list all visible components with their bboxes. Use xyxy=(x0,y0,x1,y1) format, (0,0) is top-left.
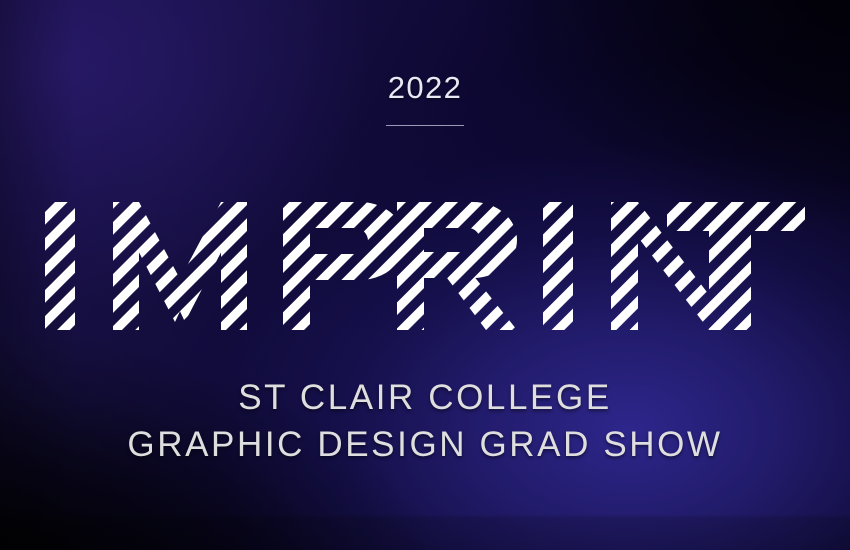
year-divider-rule xyxy=(386,125,464,126)
title-stripe-fill xyxy=(45,186,805,346)
title-wordmark xyxy=(0,186,850,346)
year-block: 2022 xyxy=(0,72,850,126)
imprint-title-svg xyxy=(45,186,805,346)
subtitle-line-school: ST CLAIR COLLEGE xyxy=(0,375,850,422)
poster-canvas: 2022 xyxy=(0,0,850,550)
subtitle-block: ST CLAIR COLLEGE GRAPHIC DESIGN GRAD SHO… xyxy=(0,375,850,468)
subtitle-line-program: GRAPHIC DESIGN GRAD SHOW xyxy=(0,422,850,469)
year-label: 2022 xyxy=(0,72,850,103)
